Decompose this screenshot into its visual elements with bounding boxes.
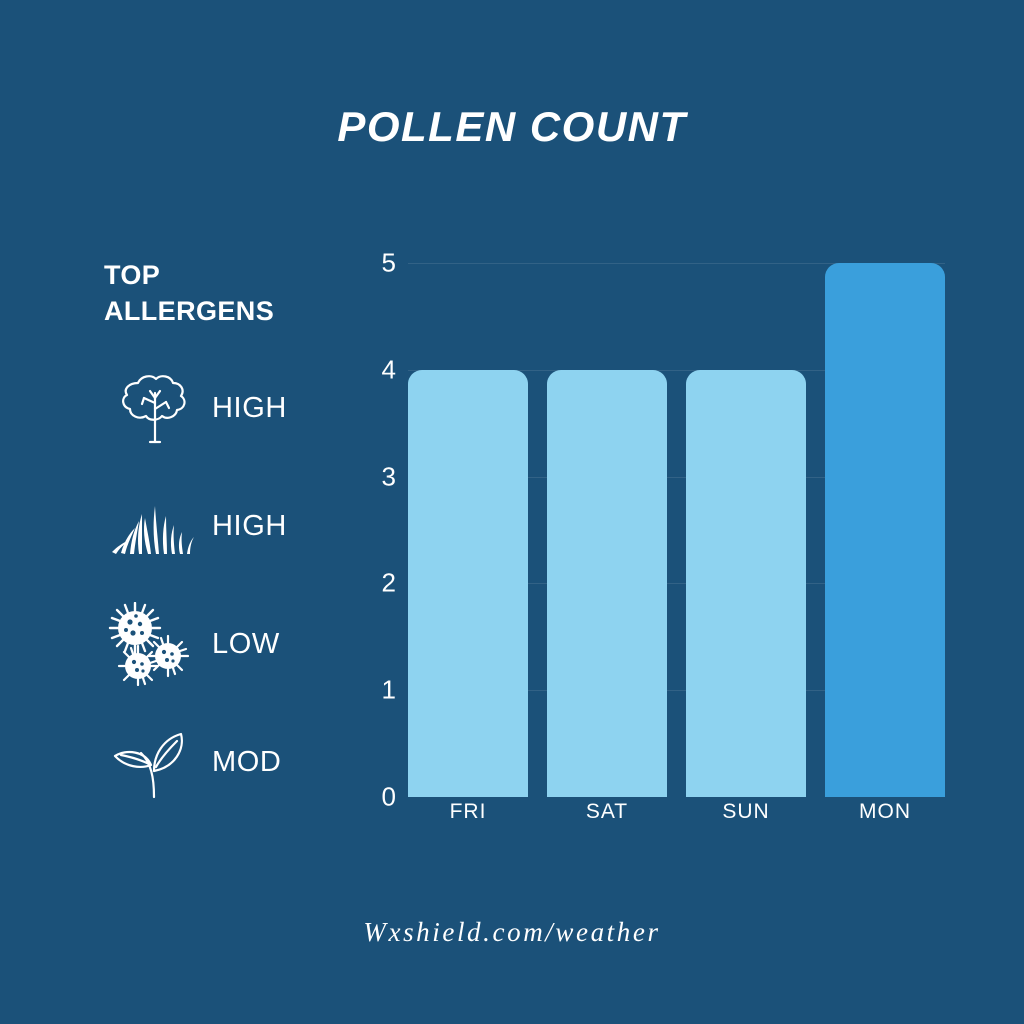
sprout-icon xyxy=(104,725,200,799)
x-tick-label: SAT xyxy=(547,800,667,824)
y-tick-label: 4 xyxy=(360,354,396,385)
y-tick-label: 2 xyxy=(360,568,396,599)
bar-mon[interactable] xyxy=(825,263,945,797)
y-tick-label: 0 xyxy=(360,782,396,813)
footer-url: Wxshield.com/weather xyxy=(0,917,1024,948)
y-axis: 012345 xyxy=(360,243,396,817)
x-tick-label: SUN xyxy=(686,800,806,824)
top-allergens-panel: TOP ALLERGENS HIGH xyxy=(104,258,334,843)
top-allergens-heading: TOP ALLERGENS xyxy=(104,258,334,329)
bar-chart-plot xyxy=(408,263,945,797)
allergen-level-sprout: MOD xyxy=(212,746,281,779)
tree-icon xyxy=(104,371,200,445)
spores-icon xyxy=(104,607,200,681)
page-title: POLLEN COUNT xyxy=(0,103,1024,151)
x-tick-label: FRI xyxy=(408,800,528,824)
allergen-level-tree: HIGH xyxy=(212,392,287,425)
x-tick-label: MON xyxy=(825,800,945,824)
y-tick-label: 3 xyxy=(360,461,396,492)
allergen-row-grass: HIGH xyxy=(104,489,334,563)
bars-group xyxy=(408,263,945,797)
y-tick-label: 1 xyxy=(360,675,396,706)
bar-sun[interactable] xyxy=(686,370,806,797)
allergen-row-tree: HIGH xyxy=(104,371,334,445)
allergen-row-spores: LOW xyxy=(104,607,334,681)
allergen-level-grass: HIGH xyxy=(212,510,287,543)
bar-fri[interactable] xyxy=(408,370,528,797)
bar-sat[interactable] xyxy=(547,370,667,797)
allergen-level-spores: LOW xyxy=(212,628,280,661)
y-tick-label: 5 xyxy=(360,248,396,279)
x-axis: FRISATSUNMON xyxy=(408,800,945,824)
grass-icon xyxy=(104,489,200,563)
allergen-row-sprout: MOD xyxy=(104,725,334,799)
